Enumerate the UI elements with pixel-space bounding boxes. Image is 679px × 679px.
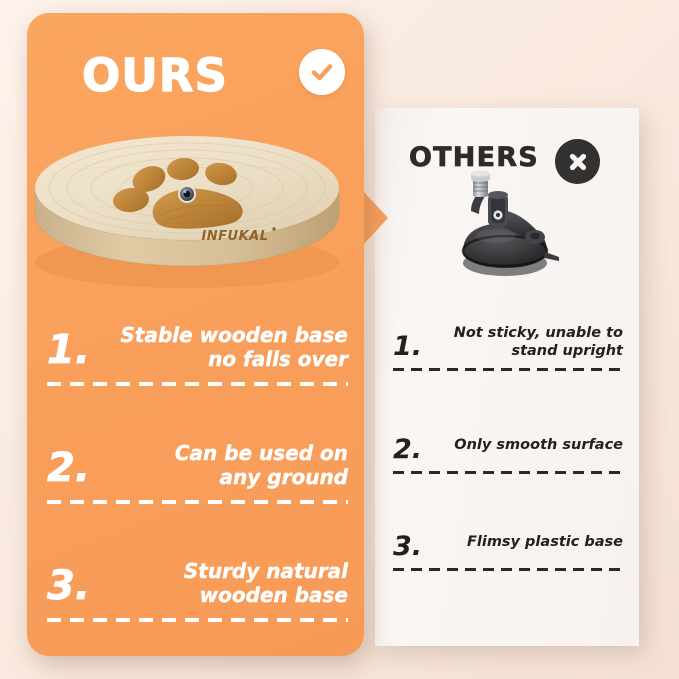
list-item-number: 2.: [47, 442, 109, 488]
list-item-number: 1.: [393, 327, 431, 360]
list-item: 2. Only smooth surface: [393, 423, 627, 474]
svg-text:INFUKAL: INFUKAL: [201, 229, 268, 244]
list-item-text: Can be used onany ground: [117, 441, 348, 490]
list-item-text: Not sticky, unable tostand upright: [441, 325, 627, 360]
others-feature-list: 1. Not sticky, unable tostand upright 2.…: [393, 320, 627, 577]
list-item: 3. Sturdy naturalwooden base: [47, 554, 348, 622]
list-item-number: 2.: [393, 430, 431, 463]
ours-feature-list: 1. Stable wooden baseno falls over 2. Ca…: [47, 318, 348, 622]
list-item-text: Only smooth surface: [441, 437, 627, 455]
list-item-text: Stable wooden baseno falls over: [117, 323, 348, 372]
divider-dashed: [47, 618, 348, 622]
list-item: 1. Not sticky, unable tostand upright: [393, 320, 627, 371]
others-panel: OTHERS: [375, 108, 639, 646]
check-circle-icon: [299, 49, 345, 95]
divider-dashed: [393, 568, 627, 571]
list-item-text: Sturdy naturalwooden base: [117, 559, 348, 608]
ours-title: OURS: [82, 53, 228, 98]
divider-dashed: [47, 382, 348, 386]
list-item: 3. Flimsy plastic base: [393, 520, 627, 571]
divider-dashed: [393, 368, 627, 371]
list-item-number: 3.: [47, 560, 109, 606]
list-item-text: Flimsy plastic base: [441, 534, 627, 552]
divider-dashed: [393, 471, 627, 474]
list-item: 1. Stable wooden baseno falls over: [47, 318, 348, 386]
list-item-number: 1.: [47, 324, 109, 370]
arrow-pointer-icon: [364, 192, 388, 244]
wooden-paw-base-product-image: INFUKAL: [27, 128, 364, 293]
comparison-infographic: OTHERS: [0, 0, 679, 679]
suction-cup-product-image: [375, 160, 639, 285]
list-item: 2. Can be used onany ground: [47, 436, 348, 504]
ours-panel: OURS: [27, 13, 364, 656]
list-item-number: 3.: [393, 527, 431, 560]
divider-dashed: [47, 500, 348, 504]
